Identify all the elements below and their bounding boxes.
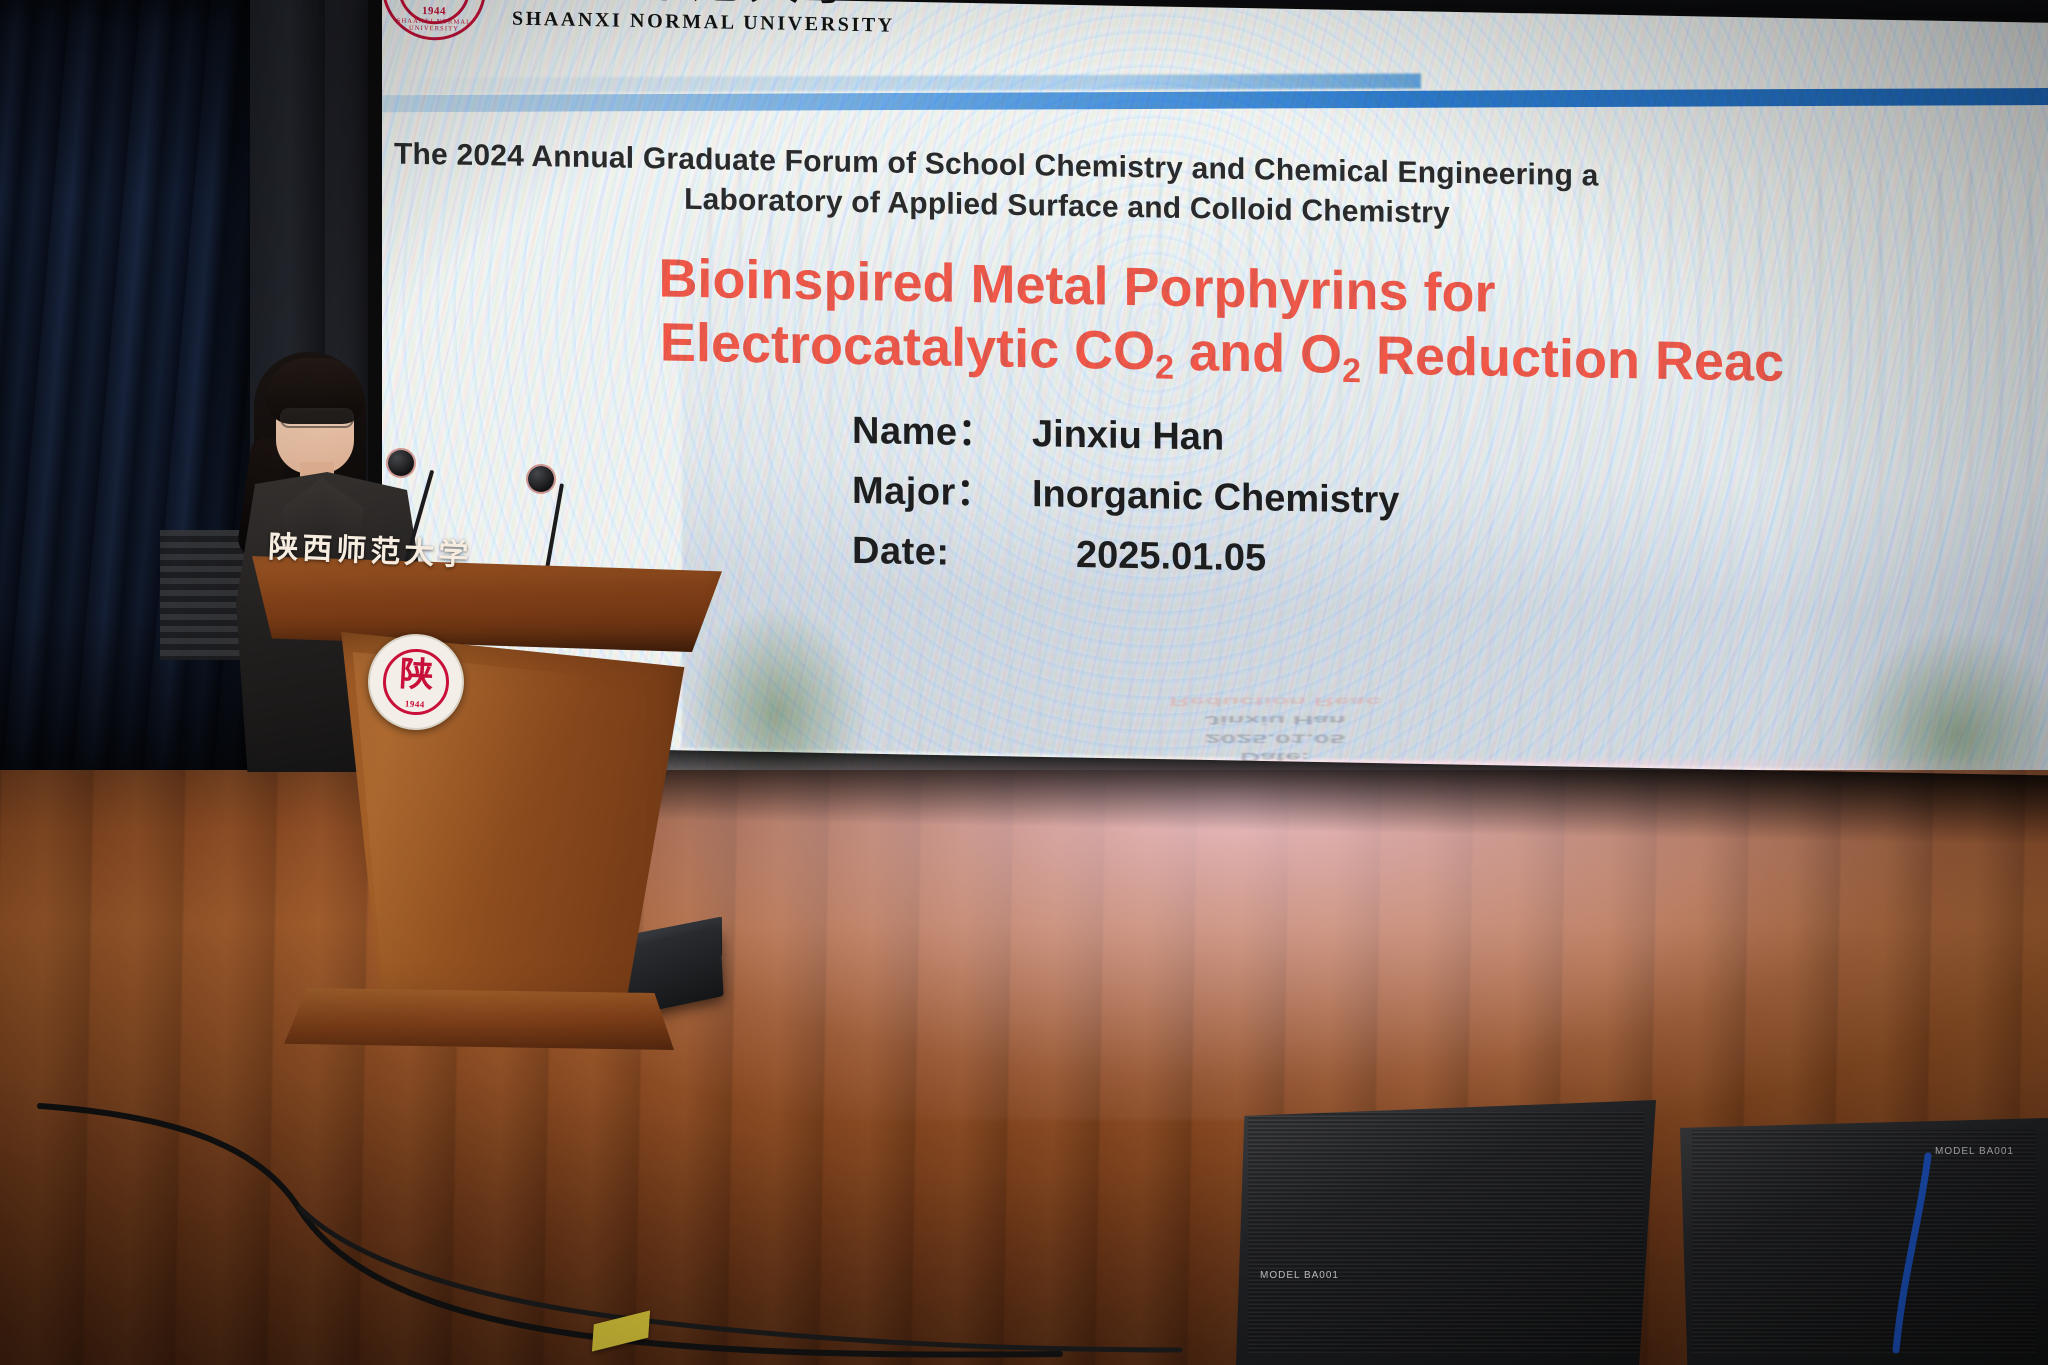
seal-year: 1944 — [385, 4, 483, 18]
stage-monitor-left-grille — [1248, 1112, 1644, 1353]
university-wordmark: 陕西师范大学 SHAANXI NORMAL UNIVERSITY — [512, 0, 895, 37]
title-segment-c: Reduction Reac — [1361, 325, 1784, 393]
podium-base — [284, 988, 674, 1050]
stage-curtain-left — [0, 0, 250, 790]
major-value: Inorganic Chemistry — [1032, 464, 1399, 531]
stage-monitor-right-grille — [1692, 1130, 2036, 1353]
name-label: Name： — [852, 401, 1032, 464]
name-value: Jinxiu Han — [1032, 404, 1224, 468]
university-name-english: SHAANXI NORMAL UNIVERSITY — [512, 7, 895, 37]
title-segment-a: Electrocatalytic CO — [660, 312, 1155, 381]
eyeglasses — [280, 408, 354, 428]
podium-seal-glyph: 陕 — [370, 656, 464, 695]
podium-seal-year: 1944 — [369, 697, 461, 712]
meta-row-name: Name： Jinxiu Han — [852, 401, 1399, 471]
major-label: Major： — [852, 461, 1032, 524]
title-subscript-co2: 2 — [1155, 348, 1174, 386]
stage-monitor-left: MODEL BA001 — [1236, 1100, 1656, 1365]
university-seal-icon: 陕 西 师 范 大 学 陕 1944 SHAANXI NORMAL UNIVER… — [382, 0, 486, 41]
presentation-photo-scene: 陕 西 师 范 大 学 陕 1944 SHAANXI NORMAL UNIVER… — [0, 0, 2048, 1365]
slide-accent-band-soft — [382, 74, 1421, 94]
title-segment-b: and O — [1174, 321, 1342, 384]
seal-arc-bottom-text: SHAANXI NORMAL UNIVERSITY — [385, 17, 483, 33]
speaker-meta-block: Name： Jinxiu Han Major： Inorganic Chemis… — [852, 401, 1399, 591]
stage-monitor-right: MODEL BA001 — [1680, 1118, 2048, 1365]
podium-plaque-text: 陕西师范大学 — [267, 522, 569, 595]
forum-heading: The 2024 Annual Graduate Forum of School… — [382, 134, 2048, 244]
university-lockup: 陕 西 师 范 大 学 陕 1944 SHAANXI NORMAL UNIVER… — [382, 0, 982, 53]
university-name-chinese: 陕西师范大学 — [512, 0, 895, 8]
stage-monitor-right-badge: MODEL BA001 — [1935, 1146, 2014, 1157]
microphone-head-left — [388, 450, 414, 476]
date-label: Date: — [852, 521, 1032, 584]
microphone-head-right — [528, 466, 554, 492]
wooden-podium: 陕西师范大学 陕 1944 — [232, 556, 732, 1176]
meta-row-major: Major： Inorganic Chemistry — [852, 461, 1399, 531]
title-subscript-o2: 2 — [1342, 352, 1361, 390]
stage-monitor-left-badge: MODEL BA001 — [1260, 1270, 1339, 1281]
seal-center-glyph: 陕 — [385, 0, 483, 2]
meta-row-date: Date: 2025.01.05 — [852, 521, 1399, 591]
date-value: 2025.01.05 — [1032, 524, 1266, 588]
